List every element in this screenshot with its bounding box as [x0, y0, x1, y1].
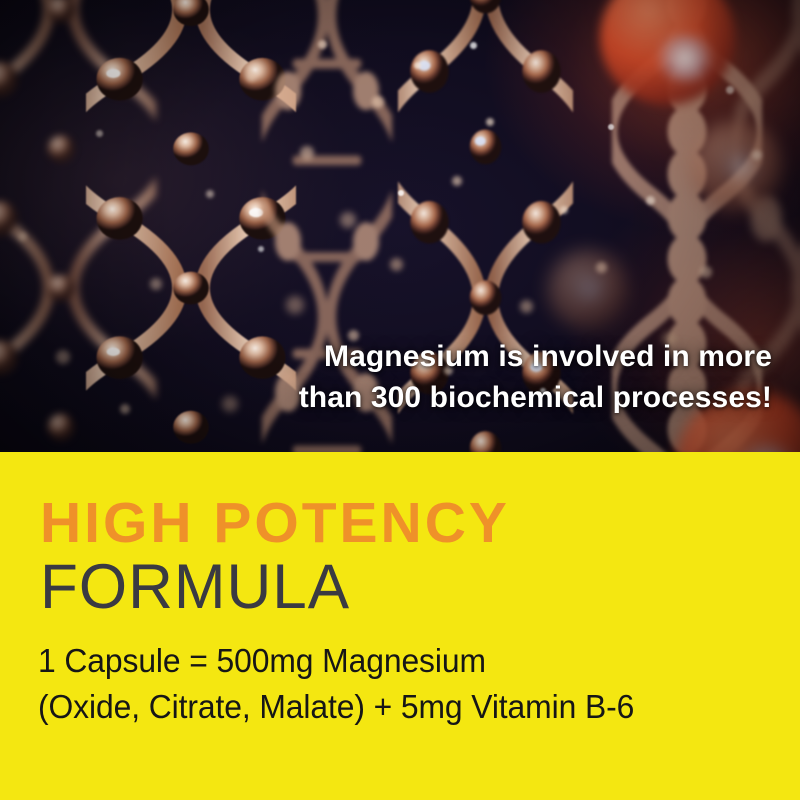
dna-photo-panel: Magnesium is involved in more than 300 b… — [0, 0, 800, 452]
product-banner: Magnesium is involved in more than 300 b… — [0, 0, 800, 800]
title-formula: FORMULA — [40, 556, 760, 619]
formula-title-block: HIGH POTENCY FORMULA — [40, 494, 760, 618]
dosage-line-1: 1 Capsule = 500mg Magnesium — [38, 638, 752, 684]
dosage-description: 1 Capsule = 500mg Magnesium (Oxide, Citr… — [38, 638, 778, 730]
formula-info-panel: HIGH POTENCY FORMULA 1 Capsule = 500mg M… — [0, 452, 800, 800]
photo-headline: Magnesium is involved in more than 300 b… — [40, 336, 772, 418]
headline-line-1: Magnesium is involved in more — [40, 336, 772, 377]
title-high-potency: HIGH POTENCY — [40, 494, 760, 552]
headline-line-2: than 300 biochemical processes! — [40, 377, 772, 418]
bokeh-particle-icon — [596, 262, 607, 273]
dosage-line-2: (Oxide, Citrate, Malate) + 5mg Vitamin B… — [38, 684, 752, 730]
